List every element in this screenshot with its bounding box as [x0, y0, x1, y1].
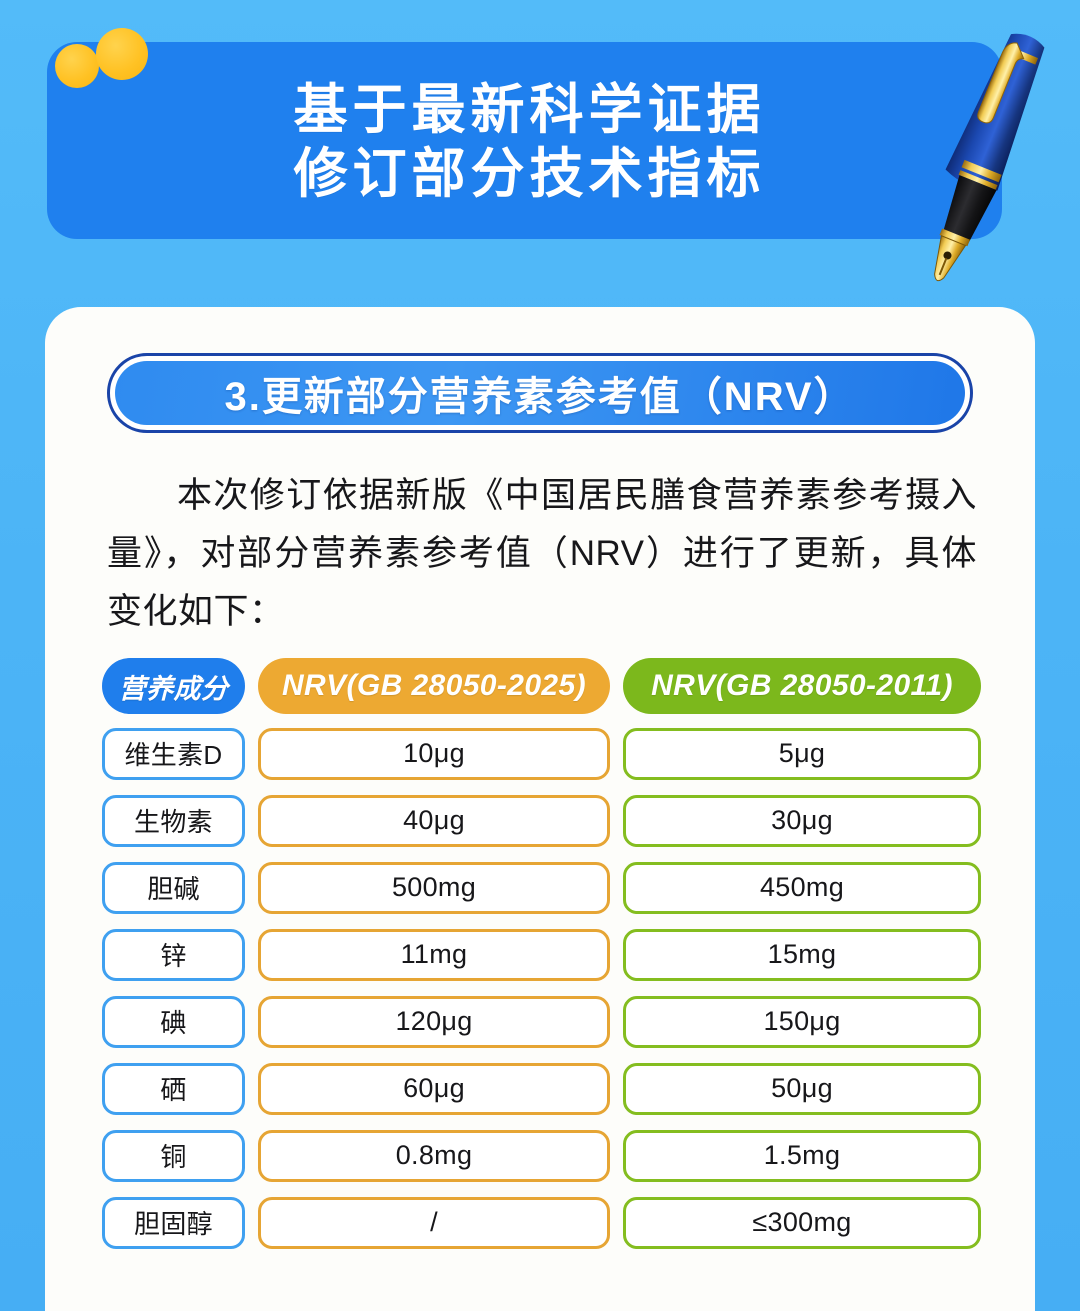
section-title-text: 3.更新部分营养素参考值（NRV） [224, 364, 855, 422]
cell-nutrient: 碘 [102, 996, 245, 1048]
cell-nutrient: 胆固醇 [102, 1197, 245, 1249]
table-header-row: 营养成分 NRV(GB 28050-2025) NRV(GB 28050-201… [102, 652, 992, 720]
infographic-page: 基于最新科学证据 修订部分技术指标 [0, 0, 1080, 1311]
cell-old-value: 150μg [623, 996, 981, 1048]
table-row: 胆碱 500mg 450mg [102, 854, 992, 921]
section-paragraph: 本次修订依据新版《中国居民膳食营养素参考摄入量》，对部分营养素参考值（NRV）进… [107, 467, 977, 641]
table-row: 生物素 40μg 30μg [102, 787, 992, 854]
banner-title: 基于最新科学证据 修订部分技术指标 [47, 78, 1002, 206]
table-header-new-standard: NRV(GB 28050-2025) [258, 658, 610, 714]
cell-old-value: 5μg [623, 728, 981, 780]
cell-old-value: 50μg [623, 1063, 981, 1115]
table-row: 胆固醇 / ≤300mg [102, 1189, 992, 1256]
table-row: 锌 11mg 15mg [102, 921, 992, 988]
cell-new-value: / [258, 1197, 610, 1249]
table-row: 铜 0.8mg 1.5mg [102, 1122, 992, 1189]
cell-nutrient: 铜 [102, 1130, 245, 1182]
table-row: 硒 60μg 50μg [102, 1055, 992, 1122]
section-title-inner: 3.更新部分营养素参考值（NRV） [115, 361, 965, 425]
cell-nutrient: 生物素 [102, 795, 245, 847]
table-row: 碘 120μg 150μg [102, 988, 992, 1055]
banner-title-line-1: 基于最新科学证据 [57, 78, 1002, 142]
cell-nutrient: 维生素D [102, 728, 245, 780]
cell-nutrient: 锌 [102, 929, 245, 981]
cell-nutrient: 胆碱 [102, 862, 245, 914]
cell-old-value: ≤300mg [623, 1197, 981, 1249]
content-card: 3.更新部分营养素参考值（NRV） 本次修订依据新版《中国居民膳食营养素参考摄入… [45, 307, 1035, 1311]
cell-new-value: 10μg [258, 728, 610, 780]
cell-nutrient: 硒 [102, 1063, 245, 1115]
cell-new-value: 500mg [258, 862, 610, 914]
cell-old-value: 450mg [623, 862, 981, 914]
table-header-nutrient: 营养成分 [102, 658, 245, 714]
cell-old-value: 15mg [623, 929, 981, 981]
banner-title-line-2: 修订部分技术指标 [57, 142, 1002, 206]
cell-old-value: 1.5mg [623, 1130, 981, 1182]
nrv-comparison-table: 营养成分 NRV(GB 28050-2025) NRV(GB 28050-201… [102, 652, 992, 1256]
cell-new-value: 0.8mg [258, 1130, 610, 1182]
cell-new-value: 60μg [258, 1063, 610, 1115]
header-banner: 基于最新科学证据 修订部分技术指标 [47, 42, 1002, 239]
table-header-old-standard: NRV(GB 28050-2011) [623, 658, 981, 714]
cell-new-value: 40μg [258, 795, 610, 847]
cell-old-value: 30μg [623, 795, 981, 847]
section-title-pill: 3.更新部分营养素参考值（NRV） [107, 353, 973, 433]
table-row: 维生素D 10μg 5μg [102, 720, 992, 787]
decorative-dot-large [96, 28, 148, 80]
cell-new-value: 11mg [258, 929, 610, 981]
decorative-dot-small [55, 44, 99, 88]
cell-new-value: 120μg [258, 996, 610, 1048]
